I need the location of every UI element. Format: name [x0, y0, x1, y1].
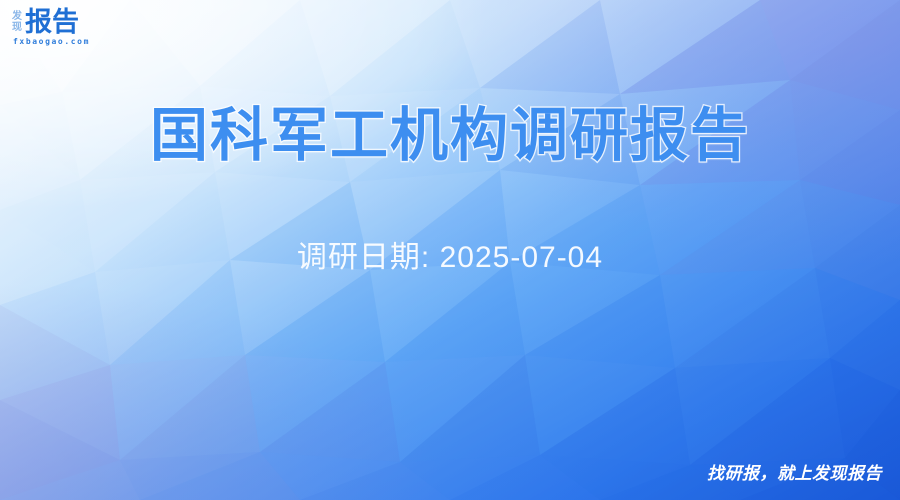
logo-wordmark-row: 发 现 报告	[12, 8, 79, 36]
report-cover-page: 发 现 报告 fxbaogao.com 国科军工机构调研报告 调研日期: 202…	[0, 0, 900, 500]
logo-mark-bottom: 现	[12, 22, 22, 33]
page-title: 国科军工机构调研报告	[0, 88, 900, 172]
logo-mark-top: 发	[12, 11, 22, 22]
logo-mark-stack: 发 现	[12, 11, 22, 33]
logo-url: fxbaogao.com	[13, 37, 90, 46]
site-logo[interactable]: 发 现 报告 fxbaogao.com	[12, 8, 90, 46]
logo-wordmark: 报告	[25, 8, 79, 36]
footer-slogan: 找研报，就上发现报告	[707, 459, 882, 484]
page-subtitle: 调研日期: 2025-07-04	[0, 232, 900, 276]
